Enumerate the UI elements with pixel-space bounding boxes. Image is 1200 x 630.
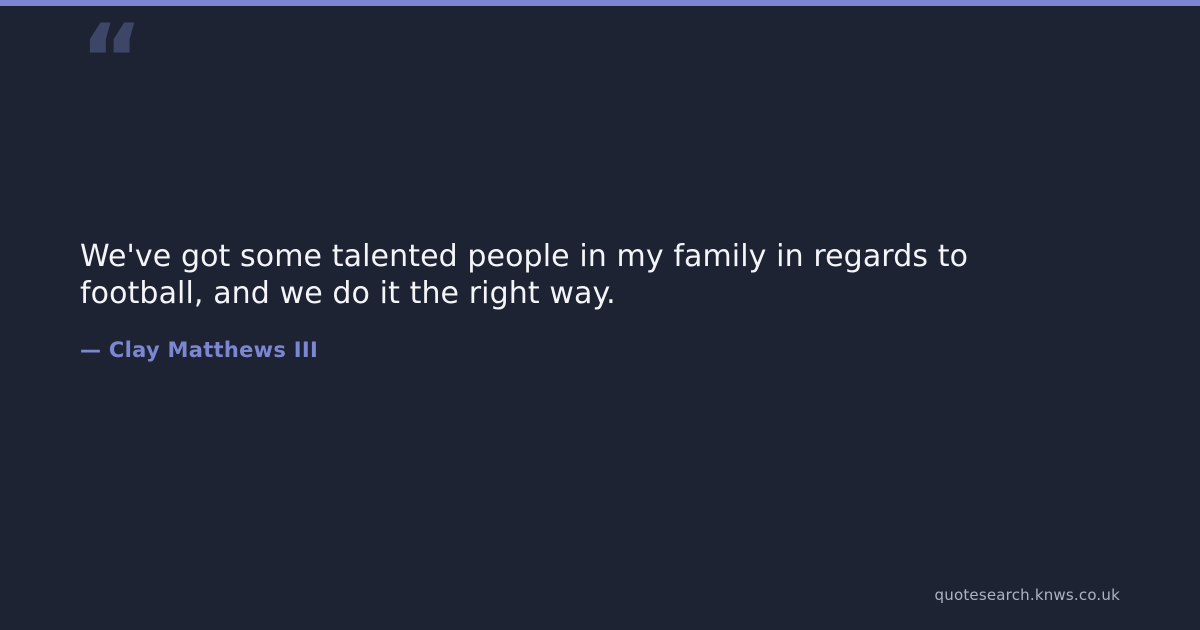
open-quote-icon: “ (80, 12, 141, 108)
quote-attribution: — Clay Matthews III (80, 312, 1090, 363)
quote-text: We've got some talented people in my fam… (80, 238, 1090, 312)
top-accent-bar (0, 0, 1200, 6)
quote-card: “ We've got some talented people in my f… (0, 0, 1200, 630)
site-watermark: quotesearch.knws.co.uk (935, 586, 1120, 604)
quote-body: We've got some talented people in my fam… (80, 238, 1090, 363)
